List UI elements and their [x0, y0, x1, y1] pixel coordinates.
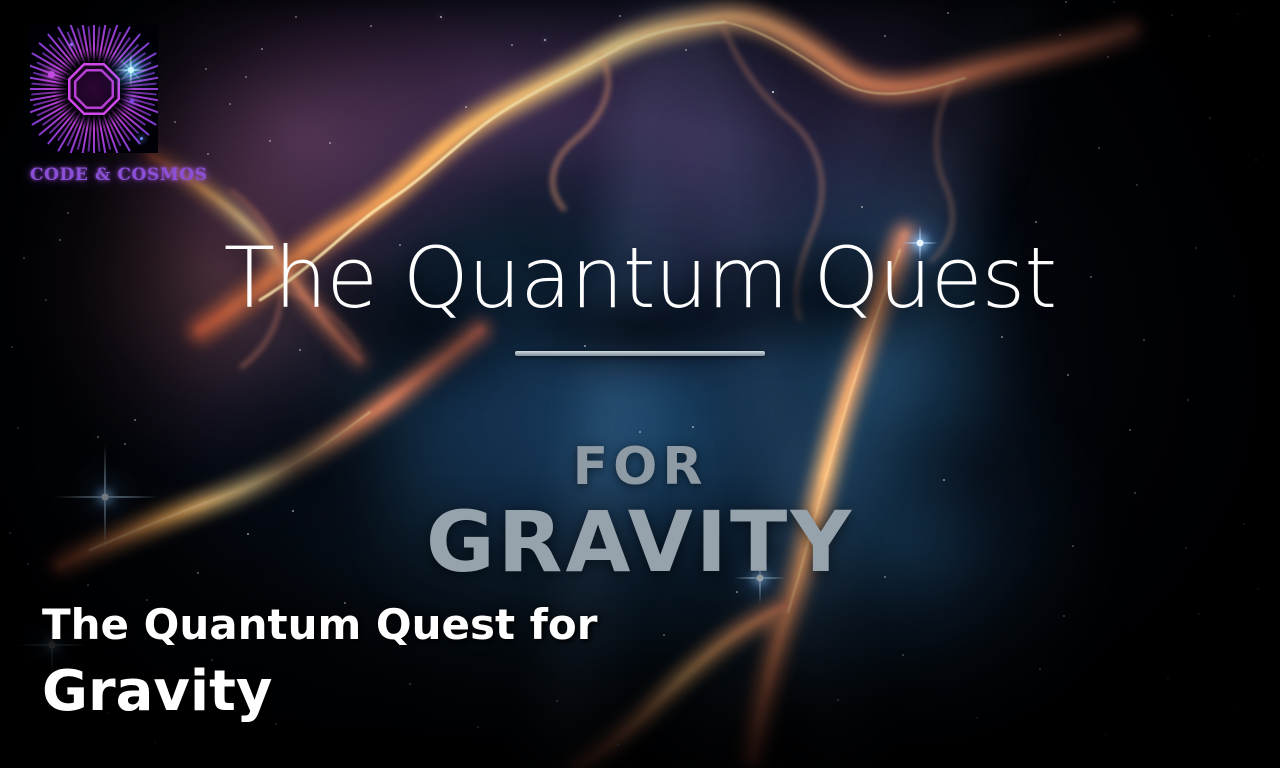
star	[295, 16, 296, 17]
star	[947, 12, 949, 14]
star	[269, 140, 270, 141]
star	[976, 717, 977, 718]
brand-logo[interactable]: CODE & COSMOS	[30, 25, 220, 185]
spark-dot	[70, 43, 73, 46]
star	[772, 91, 775, 94]
star	[11, 346, 13, 348]
star	[861, 206, 862, 207]
star	[1136, 184, 1137, 185]
star	[1167, 677, 1169, 679]
star	[154, 741, 155, 742]
star	[245, 76, 246, 77]
burst-ray	[120, 88, 158, 90]
star	[584, 345, 585, 346]
brand-name: CODE & COSMOS	[30, 165, 220, 185]
star	[1198, 613, 1199, 614]
star	[639, 431, 640, 432]
star	[1129, 429, 1131, 431]
star	[465, 106, 466, 107]
star	[67, 212, 69, 214]
radial-burst-octagon-icon	[30, 25, 158, 153]
star	[134, 419, 136, 421]
burst-ray	[30, 88, 68, 90]
star	[1255, 159, 1256, 160]
star	[1067, 374, 1068, 375]
star	[685, 49, 686, 50]
caption-line-1: The Quantum Quest for	[42, 603, 598, 647]
star	[370, 25, 372, 27]
star	[1001, 336, 1002, 337]
star	[511, 44, 512, 45]
star	[17, 427, 18, 428]
star	[1035, 221, 1037, 223]
caption-line-2: Gravity	[42, 663, 598, 722]
star	[1039, 668, 1041, 670]
star	[1063, 615, 1065, 617]
star	[1059, 34, 1061, 36]
star	[87, 584, 88, 585]
star	[97, 436, 98, 437]
star	[440, 16, 442, 18]
poster-canvas: CODE & COSMOS The Quantum Quest FOR GRAV…	[0, 0, 1280, 768]
star	[1065, 1, 1067, 3]
star	[1209, 117, 1211, 119]
star	[1237, 13, 1239, 15]
star	[619, 15, 620, 16]
star	[1113, 1, 1115, 3]
poster-subtitle-small: FOR	[0, 441, 1280, 493]
burst-ray	[93, 115, 95, 153]
star	[544, 39, 546, 41]
poster-title: The Quantum Quest	[0, 236, 1280, 320]
star	[275, 723, 277, 725]
star	[1208, 35, 1210, 37]
star	[837, 699, 838, 700]
star	[902, 654, 904, 656]
star	[1143, 339, 1145, 341]
star	[692, 426, 693, 427]
star	[1105, 734, 1106, 735]
star	[299, 349, 300, 350]
star	[229, 103, 230, 104]
octagon-core	[77, 72, 112, 107]
star	[1234, 705, 1236, 707]
star	[477, 726, 479, 728]
star	[1107, 56, 1108, 57]
cyan-star-icon	[114, 53, 148, 87]
poster-subtitle-large: GRAVITY	[0, 500, 1280, 584]
star	[1098, 147, 1099, 148]
caption-overlay: The Quantum Quest for Gravity	[42, 603, 598, 722]
spark-dot	[140, 137, 143, 140]
star	[1171, 14, 1173, 16]
spark-dot	[130, 99, 134, 103]
star	[1257, 588, 1259, 590]
star	[884, 35, 885, 36]
star	[617, 744, 619, 746]
star	[1187, 399, 1188, 400]
poster-divider	[515, 351, 765, 356]
spark-dot	[48, 71, 55, 78]
star	[261, 48, 263, 50]
star	[329, 142, 330, 143]
star	[663, 634, 664, 635]
